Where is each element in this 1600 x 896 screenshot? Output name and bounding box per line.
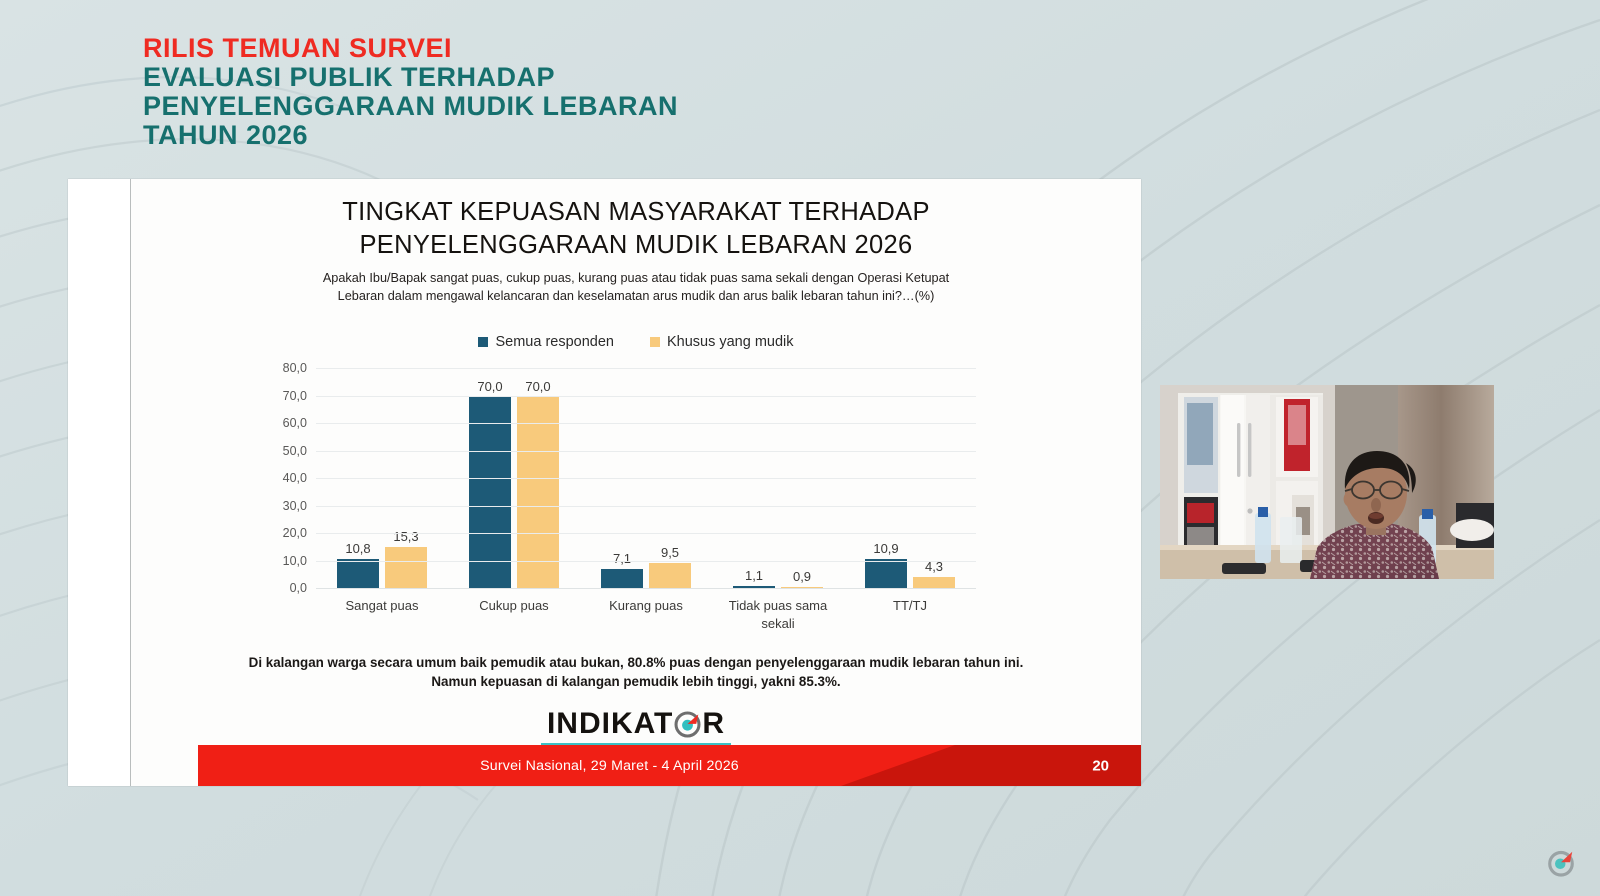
chart-gridline: 60,0: [316, 423, 976, 424]
indikator-wordmark: INDIKAT R: [547, 707, 725, 741]
legend-swatch-icon: [478, 337, 488, 347]
speaker-video-feed[interactable]: [1160, 385, 1494, 579]
slide-content-area: TINGKAT KEPUASAN MASYARAKAT TERHADAP PEN…: [130, 179, 1141, 786]
y-axis-tick-label: 10,0: [283, 554, 307, 568]
legend-item-1[interactable]: Khusus yang mudik: [650, 334, 794, 350]
x-axis-category-label: Cukup puas: [448, 597, 580, 632]
y-axis-tick-label: 50,0: [283, 444, 307, 458]
bar[interactable]: [865, 559, 907, 589]
bar-column[interactable]: 15,3: [385, 369, 427, 589]
bar-column[interactable]: 0,9: [781, 369, 823, 589]
bar-group: 1,10,9: [712, 369, 844, 589]
x-axis-category-label: Sangat puas: [316, 597, 448, 632]
y-axis-tick-label: 40,0: [283, 471, 307, 485]
y-axis-tick-label: 70,0: [283, 389, 307, 403]
slide-footer: Survei Nasional, 29 Maret - 4 April 2026…: [198, 745, 1141, 786]
bar-value-label: 9,5: [661, 545, 679, 560]
chart-gridline: 0,0: [316, 588, 976, 589]
chart-gridline: 30,0: [316, 506, 976, 507]
footer-survey-period: Survei Nasional, 29 Maret - 4 April 2026: [198, 758, 1141, 774]
y-axis-tick-label: 20,0: [283, 526, 307, 540]
bar-column[interactable]: 70,0: [469, 369, 511, 589]
legend-label: Khusus yang mudik: [667, 334, 794, 350]
bar-group: 10,94,3: [844, 369, 976, 589]
chart-question: Apakah Ibu/Bapak sangat puas, cukup puas…: [241, 269, 1031, 306]
chart-plot-area: 10,815,370,070,07,19,51,10,910,94,3 0,01…: [316, 369, 976, 589]
chart-gridline: 20,0: [316, 533, 976, 534]
bar-value-label: 70,0: [477, 379, 502, 394]
legend-label: Semua responden: [495, 334, 614, 350]
bar-value-label: 7,1: [613, 551, 631, 566]
bar-group: 70,070,0: [448, 369, 580, 589]
chart-question-line-1: Apakah Ibu/Bapak sangat puas, cukup puas…: [241, 269, 1031, 287]
indikator-logo-watermark: [1546, 848, 1576, 878]
headline-line-3: PENYELENGGARAAN MUDIK LEBARAN: [143, 92, 678, 121]
chart-title-line-2: PENYELENGGARAAN MUDIK LEBARAN 2026: [131, 229, 1141, 262]
bar[interactable]: [385, 547, 427, 589]
bar-column[interactable]: 4,3: [913, 369, 955, 589]
bar-column[interactable]: 1,1: [733, 369, 775, 589]
chart-gridline: 80,0: [316, 368, 976, 369]
bar-group: 7,19,5: [580, 369, 712, 589]
presentation-slide: TINGKAT KEPUASAN MASYARAKAT TERHADAP PEN…: [68, 179, 1141, 786]
target-eye-icon: [674, 711, 701, 738]
legend-item-0[interactable]: Semua responden: [478, 334, 614, 350]
headline-line-4: TAHUN 2026: [143, 121, 678, 150]
chart-gridline: 50,0: [316, 451, 976, 452]
bar-value-label: 70,0: [525, 379, 550, 394]
bar[interactable]: [601, 569, 643, 589]
chart-footnote-line-1: Di kalangan warga secara umum baik pemud…: [191, 653, 1081, 672]
chart-x-axis-labels: Sangat puasCukup puasKurang puasTidak pu…: [316, 597, 976, 632]
x-axis-category-label: Kurang puas: [580, 597, 712, 632]
x-axis-category-label: TT/TJ: [844, 597, 976, 632]
legend-swatch-icon: [650, 337, 660, 347]
chart-gridline: 70,0: [316, 396, 976, 397]
y-axis-tick-label: 80,0: [283, 361, 307, 375]
chart-title: TINGKAT KEPUASAN MASYARAKAT TERHADAP PEN…: [131, 196, 1141, 262]
indikator-text-left: INDIKAT: [547, 707, 673, 741]
y-axis-tick-label: 0,0: [290, 581, 307, 595]
headline-line-2: EVALUASI PUBLIK TERHADAP: [143, 63, 678, 92]
bar-value-label: 15,3: [393, 529, 418, 544]
y-axis-tick-label: 60,0: [283, 416, 307, 430]
bar-column[interactable]: 10,8: [337, 369, 379, 589]
headline-block: RILIS TEMUAN SURVEI EVALUASI PUBLIK TERH…: [143, 34, 678, 151]
chart-gridline: 10,0: [316, 561, 976, 562]
y-axis-tick-label: 30,0: [283, 499, 307, 513]
bar-chart: 10,815,370,070,07,19,51,10,910,94,3 0,01…: [131, 359, 1142, 624]
bar-column[interactable]: 9,5: [649, 369, 691, 589]
chart-footnote-line-2: Namun kepuasan di kalangan pemudik lebih…: [191, 672, 1081, 691]
bar-group: 10,815,3: [316, 369, 448, 589]
bar-column[interactable]: 7,1: [601, 369, 643, 589]
bar-value-label: 10,8: [345, 541, 370, 556]
chart-bars: 10,815,370,070,07,19,51,10,910,94,3: [316, 369, 976, 589]
chart-gridline: 40,0: [316, 478, 976, 479]
indikator-text-right: R: [702, 707, 725, 741]
x-axis-category-label: Tidak puas sama sekali: [712, 597, 844, 632]
bar[interactable]: [649, 563, 691, 589]
bar-value-label: 10,9: [873, 541, 898, 556]
chart-footnote: Di kalangan warga secara umum baik pemud…: [191, 653, 1081, 692]
chart-legend: Semua respondenKhusus yang mudik: [131, 334, 1141, 350]
headline-line-1: RILIS TEMUAN SURVEI: [143, 34, 678, 63]
bar-column[interactable]: 10,9: [865, 369, 907, 589]
bar-value-label: 0,9: [793, 569, 811, 584]
bar-value-label: 1,1: [745, 568, 763, 583]
chart-title-line-1: TINGKAT KEPUASAN MASYARAKAT TERHADAP: [131, 196, 1141, 229]
footer-page-number: 20: [1092, 757, 1109, 774]
bar[interactable]: [337, 559, 379, 589]
bar-column[interactable]: 70,0: [517, 369, 559, 589]
chart-question-line-2: Lebaran dalam mengawal kelancaran dan ke…: [241, 287, 1031, 305]
